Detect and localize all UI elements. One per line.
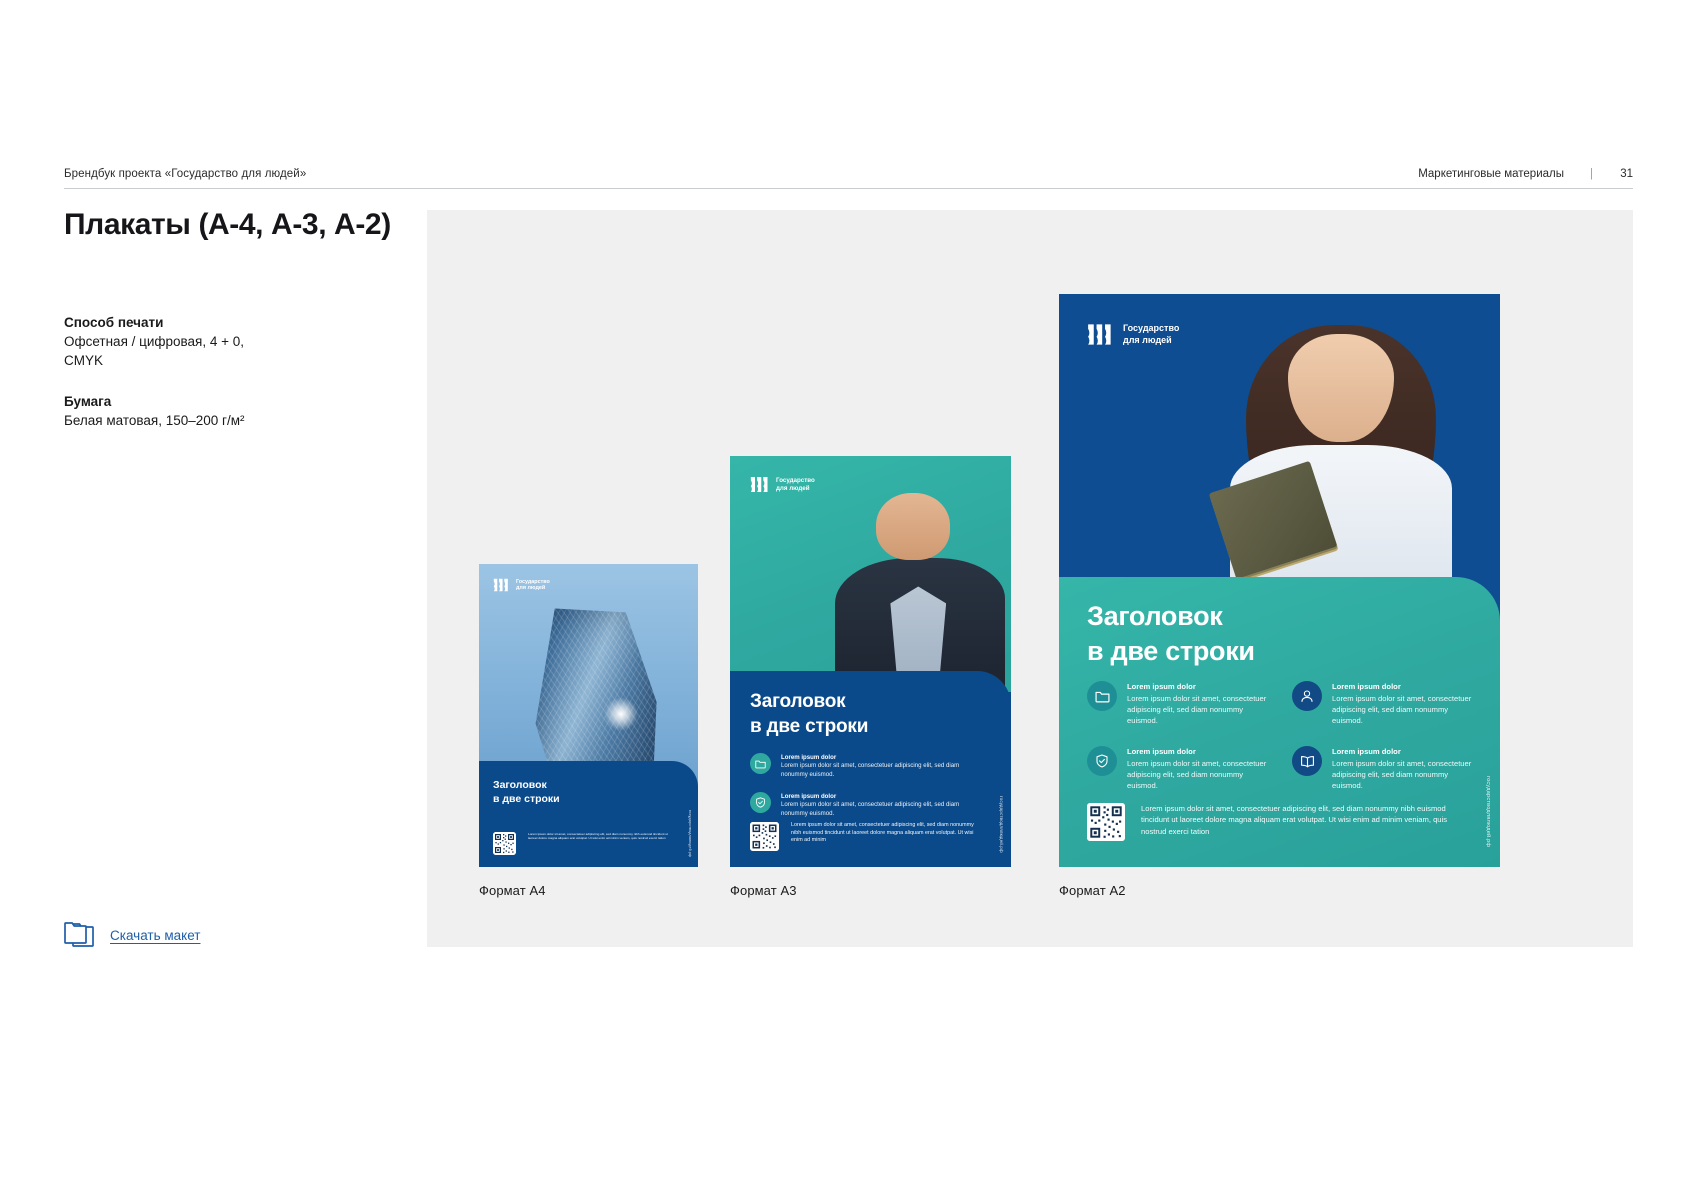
page-title: Плакаты (А-4, А-3, А-2) (64, 208, 391, 242)
brand-logo-a3: Государство для людей (750, 476, 815, 493)
poster-a2-body-text: Lorem ipsum dolor sit amet, consectetuer… (1141, 803, 1467, 837)
poster-a2-caption: Формат А2 (1059, 883, 1126, 898)
folder-icon (1087, 681, 1117, 711)
spec-heading: Способ печати (64, 313, 394, 332)
spec-line-1: Офсетная / цифровая, 4 + 0, (64, 332, 394, 351)
gosudarstvo-logo-icon (750, 476, 770, 493)
poster-a3-headline: Заголовок в две строки (750, 689, 868, 739)
user-icon (1292, 681, 1322, 711)
brand-logo-text-a3: Государство для людей (776, 477, 815, 492)
spec-line-2: CMYK (64, 351, 394, 370)
spec-paper: Бумага Белая матовая, 150–200 г/м² (64, 392, 394, 430)
poster-a2-headline: Заголовок в две строки (1087, 599, 1255, 669)
page-header: Брендбук проекта «Государство для людей»… (64, 168, 1633, 189)
feature-text-block: Lorem ipsum dolor Lorem ipsum dolor sit … (1127, 681, 1270, 726)
header-document-title: Брендбук проекта «Государство для людей» (64, 168, 306, 180)
poster-a3-body-text: Lorem ipsum dolor sit amet, consectetuer… (791, 822, 982, 845)
gosudarstvo-logo-icon (493, 578, 510, 592)
poster-a3-url: государстводлялюдей.рф (999, 796, 1004, 853)
sun-flare (604, 697, 638, 731)
print-specifications: Способ печати Офсетная / цифровая, 4 + 0… (64, 313, 394, 452)
folder-icon (64, 922, 94, 948)
gosudarstvo-logo-icon (1087, 323, 1114, 346)
brandbook-page: Брендбук проекта «Государство для людей»… (0, 0, 1697, 1200)
poster-a2-feature-grid: Lorem ipsum dolor Lorem ipsum dolor sit … (1087, 681, 1475, 791)
poster-a4-artboard: Государство для людей Заголовок в две ст… (479, 564, 698, 867)
poster-a2-note: Lorem ipsum dolor sit amet, consectetuer… (1087, 803, 1467, 841)
shield-check-icon (1087, 746, 1117, 776)
header-page-number: 31 (1615, 168, 1633, 180)
poster-a2-artboard: Государство для людей Заголовок в две ст… (1059, 294, 1500, 867)
shield-check-icon (750, 792, 771, 813)
poster-a2-footer: Заголовок в две строки Lorem ipsum do (1059, 577, 1500, 867)
feature-text-block: Lorem ipsum dolor Lorem ipsum dolor sit … (781, 792, 986, 818)
feature-item: Lorem ipsum dolor Lorem ipsum dolor sit … (1087, 746, 1270, 791)
poster-a4-body-text: Lorem ipsum dolor sit amet, consectetuer… (528, 832, 671, 841)
feature-text-block: Lorem ipsum dolor Lorem ipsum dolor sit … (1127, 746, 1270, 791)
download-link-label[interactable]: Скачать макет (110, 928, 200, 943)
book-icon (1292, 746, 1322, 776)
header-section-label: Маркетинговые материалы (1418, 168, 1564, 180)
poster-a2-url: государстводлялюдей.рф (1485, 776, 1491, 847)
feature-text-block: Lorem ipsum dolor Lorem ipsum dolor sit … (781, 753, 986, 779)
feature-text-block: Lorem ipsum dolor Lorem ipsum dolor sit … (1332, 681, 1475, 726)
spec-print-method: Способ печати Офсетная / цифровая, 4 + 0… (64, 313, 394, 370)
feature-text-block: Lorem ipsum dolor Lorem ipsum dolor sit … (1332, 746, 1475, 791)
header-section-info: Маркетинговые материалы | 31 (1418, 168, 1633, 180)
poster-a4-caption: Формат А4 (479, 883, 546, 898)
brand-logo-text-a2: Государство для людей (1123, 322, 1179, 346)
feature-item: Lorem ipsum dolor Lorem ipsum dolor sit … (1292, 681, 1475, 726)
poster-a3-note: Lorem ipsum dolor sit amet, consectetuer… (750, 822, 982, 851)
person-photo (1209, 313, 1474, 612)
feature-item: Lorem ipsum dolor Lorem ipsum dolor sit … (1292, 746, 1475, 791)
poster-a3-feature-list: Lorem ipsum dolor Lorem ipsum dolor sit … (750, 753, 986, 818)
poster-a3-footer: Заголовок в две строки Lorem ipsum dol (730, 671, 1011, 867)
poster-a3[interactable]: Государство для людей Заголовок в две ст… (730, 456, 1011, 867)
qr-code (750, 822, 779, 851)
poster-a3-artboard: Государство для людей Заголовок в две ст… (730, 456, 1011, 867)
poster-a4-url: государстводлялюдей.рф (688, 810, 692, 857)
poster-a4-headline: Заголовок в две строки (493, 778, 560, 806)
poster-a4-footer: Заголовок в две строки (479, 761, 698, 867)
feature-item: Lorem ipsum dolor Lorem ipsum dolor sit … (1087, 681, 1270, 726)
poster-a3-caption: Формат А3 (730, 883, 797, 898)
person-photo (831, 489, 1005, 692)
brand-logo-a4: Государство для людей (493, 578, 550, 592)
brand-logo-text-a4: Государство для людей (516, 579, 550, 592)
qr-code (1087, 803, 1125, 841)
feature-item: Lorem ipsum dolor Lorem ipsum dolor sit … (750, 792, 986, 818)
spec-heading: Бумага (64, 392, 394, 411)
spec-line-1: Белая матовая, 150–200 г/м² (64, 411, 394, 430)
folder-icon (750, 753, 771, 774)
download-layout-link[interactable]: Скачать макет (64, 922, 200, 948)
poster-a4[interactable]: Государство для людей Заголовок в две ст… (479, 564, 698, 867)
poster-gallery-panel: Государство для людей Заголовок в две ст… (427, 210, 1633, 947)
poster-a2[interactable]: Государство для людей Заголовок в две ст… (1059, 294, 1500, 867)
qr-code (493, 832, 516, 855)
poster-a4-note: Lorem ipsum dolor sit amet, consectetuer… (493, 832, 671, 855)
brand-logo-a2: Государство для людей (1087, 322, 1179, 346)
feature-item: Lorem ipsum dolor Lorem ipsum dolor sit … (750, 753, 986, 779)
header-separator: | (1564, 168, 1615, 180)
